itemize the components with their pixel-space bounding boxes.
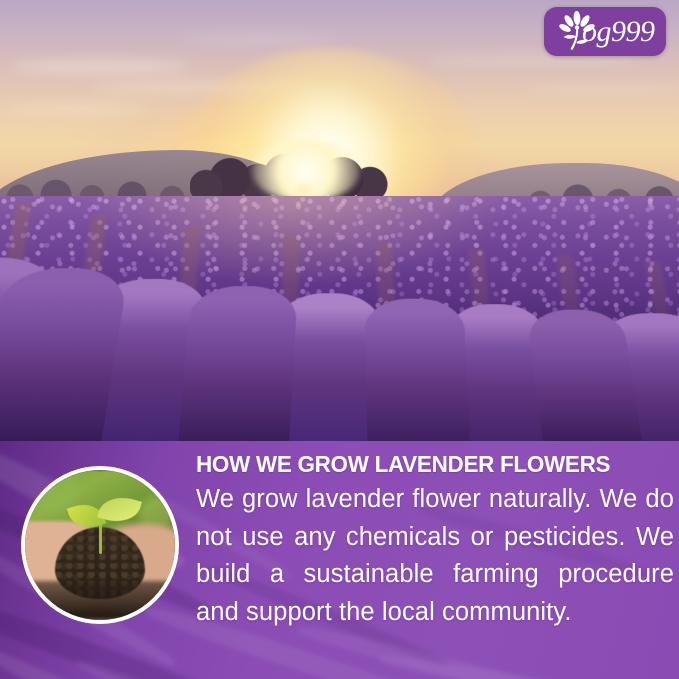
soil-base — [25, 581, 175, 620]
lavender-row — [175, 286, 298, 441]
info-banner: HOW WE GROW LAVENDER FLOWERS We grow lav… — [0, 441, 679, 679]
product-infographic-card: og999 HOW WE GROW LAVENDER FLOWERS We gr… — [0, 0, 679, 679]
lavender-row — [364, 299, 472, 441]
lavender-field-rows — [0, 196, 679, 441]
logo-wordmark: og999 — [582, 14, 664, 50]
cloud-streak — [180, 34, 340, 43]
cloud-streak — [520, 84, 679, 94]
brand-logo[interactable]: og999 — [544, 7, 666, 56]
cloud-streak — [10, 60, 190, 73]
seedling-circle-image — [21, 466, 179, 624]
cloud-streak — [0, 104, 150, 113]
banner-text-block: HOW WE GROW LAVENDER FLOWERS We grow lav… — [196, 449, 674, 631]
banner-headline: HOW WE GROW LAVENDER FLOWERS — [196, 449, 652, 479]
banner-body-text: We grow lavender flower naturally. We do… — [196, 481, 674, 631]
lavender-field-photo: og999 — [0, 0, 679, 441]
